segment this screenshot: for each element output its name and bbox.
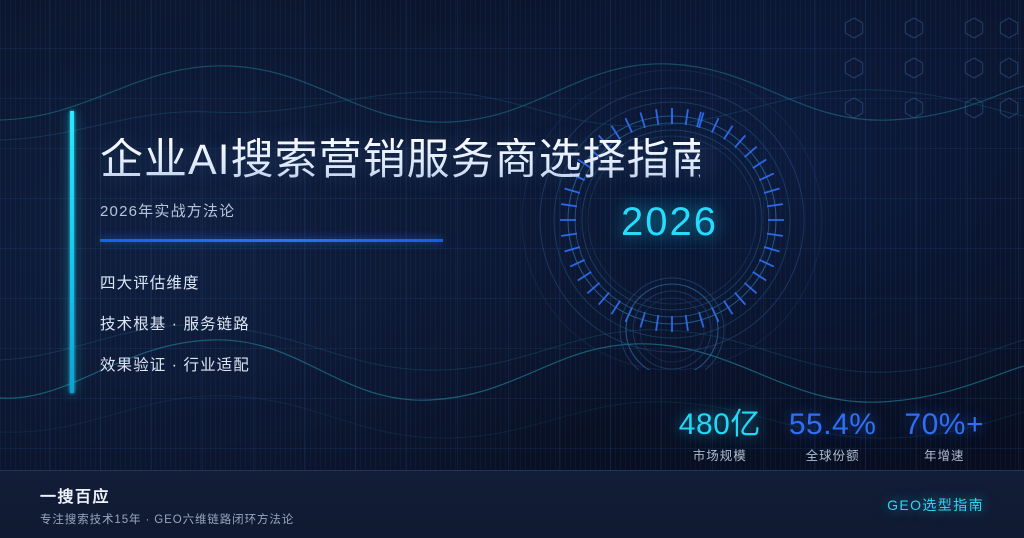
brand-tagline: 专注搜索技术15年 · GEO六维链路闭环方法论 — [40, 511, 294, 527]
stat-market-size: 480亿 市场规模 — [679, 408, 761, 464]
stat-value: 480亿 — [679, 408, 761, 442]
title-divider — [100, 239, 443, 242]
page-title: 企业AI搜索营销服务商选择指南 — [100, 138, 700, 183]
headline-block: 企业AI搜索营销服务商选择指南 2026年实战方法论 — [100, 138, 700, 221]
stat-label: 全球份额 — [789, 445, 877, 464]
page-subtitle: 2026年实战方法论 — [100, 200, 700, 221]
stat-label: 年增速 — [904, 445, 984, 464]
stat-value: 55.4% — [789, 408, 877, 442]
stat-label: 市场规模 — [679, 445, 761, 464]
footer-bar: 一搜百应 专注搜索技术15年 · GEO六维链路闭环方法论 GEO选型指南 — [0, 470, 1024, 538]
stat-value: 70%+ — [904, 408, 984, 442]
list-item: 四大评估维度 — [100, 268, 250, 300]
footer-brand: 一搜百应 专注搜索技术15年 · GEO六维链路闭环方法论 — [40, 483, 294, 527]
slide-canvas: 企业AI搜索营销服务商选择指南 2026年实战方法论 四大评估维度 技术根基 ·… — [0, 0, 1024, 538]
bullet-list: 四大评估维度 技术根基 · 服务链路 效果验证 · 行业适配 — [100, 268, 250, 382]
list-item: 技术根基 · 服务链路 — [100, 309, 250, 341]
stat-global-share: 55.4% 全球份额 — [789, 408, 877, 464]
list-item: 效果验证 · 行业适配 — [100, 350, 250, 382]
left-accent-bar — [70, 111, 74, 393]
year-label: 2026 — [621, 200, 718, 245]
stat-growth-rate: 70%+ 年增速 — [904, 408, 984, 464]
brand-name: 一搜百应 — [40, 483, 294, 507]
hexagon-pattern-icon — [784, 0, 1024, 130]
stats-row: 480亿 市场规模 55.4% 全球份额 70%+ 年增速 — [679, 408, 984, 464]
footer-tag-label: GEO选型指南 — [887, 495, 984, 515]
